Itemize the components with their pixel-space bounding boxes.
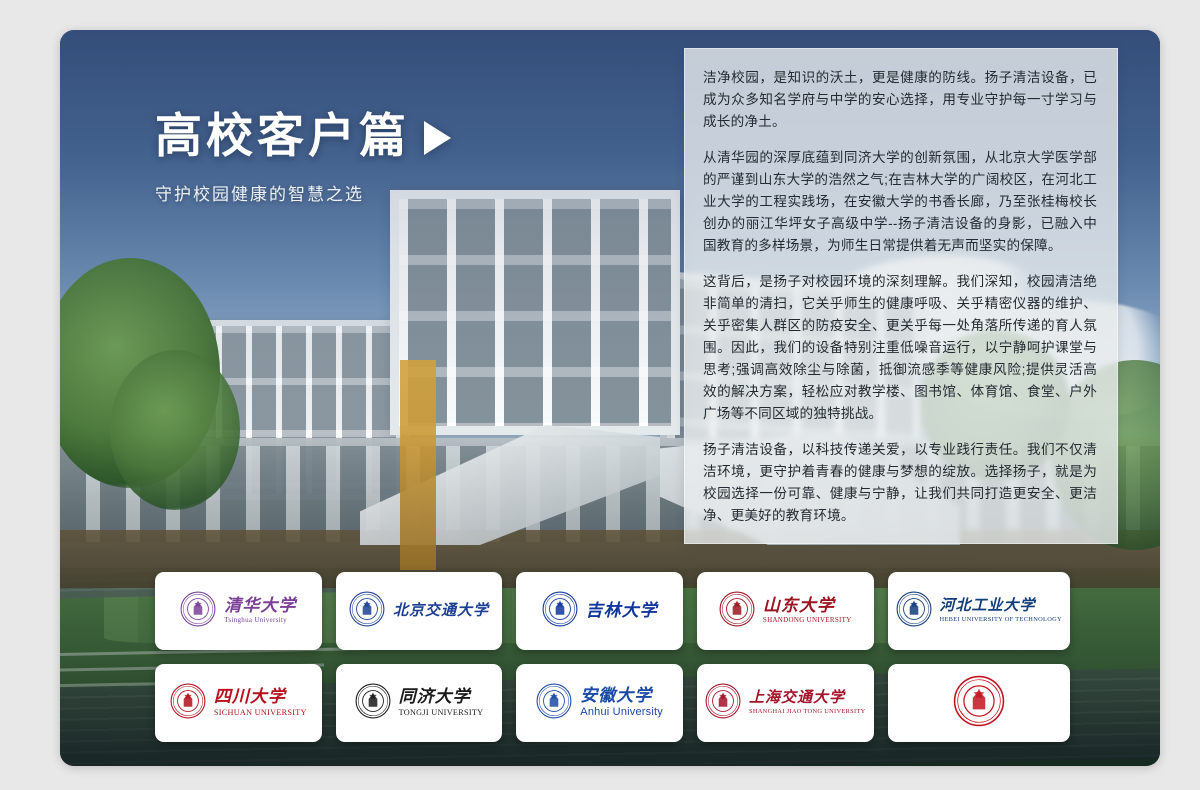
paragraph: 洁净校园，是知识的沃土，更是健康的防线。扬子清洁设备，已成为众多知名学府与中学的… bbox=[703, 67, 1097, 133]
jilin-seal-icon bbox=[542, 591, 578, 632]
logo-card-3[interactable]: 吉林大学 bbox=[516, 572, 683, 650]
china-womens-university-seal-icon bbox=[953, 675, 1005, 732]
logo-name-en: SICHUAN UNIVERSITY bbox=[214, 709, 307, 718]
logo-card-1[interactable]: 清华大学Tsinghua University bbox=[155, 572, 322, 650]
logo-name-cn: 河北工业大学 bbox=[940, 598, 1036, 614]
logo-name-cn: 清华大学 bbox=[224, 597, 296, 615]
logo-name-en: SHANDONG UNIVERSITY bbox=[763, 617, 852, 625]
sichuan-seal-icon bbox=[170, 683, 206, 724]
shandong-seal-icon bbox=[719, 591, 755, 632]
page-title-text: 高校客户篇 bbox=[155, 110, 410, 162]
logo-card-8[interactable]: 安徽大学Anhui University bbox=[516, 664, 683, 742]
logo-name-en: HEBEI UNIVERSITY OF TECHNOLOGY bbox=[940, 617, 1062, 624]
anhui-seal-icon bbox=[536, 683, 572, 724]
university-logo-grid: 清华大学Tsinghua University北京交通大学吉林大学山东大学SHA… bbox=[155, 572, 1070, 742]
page-title: 高校客户篇 bbox=[155, 110, 451, 162]
logo-name-cn: 上海交通大学 bbox=[749, 690, 845, 706]
logo-name-en: Tsinghua University bbox=[224, 617, 287, 625]
heading-block: 高校客户篇 守护校园健康的智慧之选 bbox=[155, 110, 451, 205]
logo-name-cn: 北京交通大学 bbox=[393, 603, 489, 619]
logo-name-cn: 吉林大学 bbox=[586, 602, 658, 620]
paragraph: 从清华园的深厚底蕴到同济大学的创新氛围，从北京大学医学部的严谨到山东大学的浩然之… bbox=[703, 147, 1097, 257]
logo-card-9[interactable]: 上海交通大学SHANGHAI JIAO TONG UNIVERSITY bbox=[697, 664, 874, 742]
logo-name-en: SHANGHAI JIAO TONG UNIVERSITY bbox=[749, 709, 866, 716]
logo-name-en: Anhui University bbox=[580, 707, 663, 719]
poster-card: 高校客户篇 守护校园健康的智慧之选 洁净校园，是知识的沃土，更是健康的防线。扬子… bbox=[60, 30, 1160, 766]
logo-card-7[interactable]: 同济大学TONGJI UNIVERSITY bbox=[336, 664, 503, 742]
shanghai-jiaotong-seal-icon bbox=[705, 683, 741, 724]
play-triangle-icon bbox=[424, 121, 451, 155]
paragraph: 扬子清洁设备，以科技传递关爱，以专业践行责任。我们不仅清洁环境，更守护着青春的健… bbox=[703, 439, 1097, 527]
paragraph: 这背后，是扬子对校园环境的深刻理解。我们深知，校园清洁绝非简单的清扫，它关乎师生… bbox=[703, 271, 1097, 425]
logo-name-cn: 四川大学 bbox=[214, 688, 286, 706]
tsinghua-seal-icon bbox=[180, 591, 216, 632]
logo-name-en: TONGJI UNIVERSITY bbox=[399, 709, 484, 718]
logo-name-cn: 同济大学 bbox=[399, 688, 471, 706]
description-panel: 洁净校园，是知识的沃土，更是健康的防线。扬子清洁设备，已成为众多知名学府与中学的… bbox=[684, 48, 1118, 544]
logo-card-5[interactable]: 河北工业大学HEBEI UNIVERSITY OF TECHNOLOGY bbox=[888, 572, 1070, 650]
logo-name-cn: 山东大学 bbox=[763, 597, 835, 615]
logo-name-cn: 安徽大学 bbox=[580, 687, 652, 705]
logo-card-6[interactable]: 四川大学SICHUAN UNIVERSITY bbox=[155, 664, 322, 742]
hebei-tech-seal-icon bbox=[896, 591, 932, 632]
logo-card-2[interactable]: 北京交通大学 bbox=[336, 572, 503, 650]
beijing-jiaotong-seal-icon bbox=[349, 591, 385, 632]
page-subtitle: 守护校园健康的智慧之选 bbox=[155, 180, 451, 205]
logo-card-4[interactable]: 山东大学SHANDONG UNIVERSITY bbox=[697, 572, 874, 650]
logo-card-10[interactable] bbox=[888, 664, 1070, 742]
tongji-seal-icon bbox=[355, 683, 391, 724]
